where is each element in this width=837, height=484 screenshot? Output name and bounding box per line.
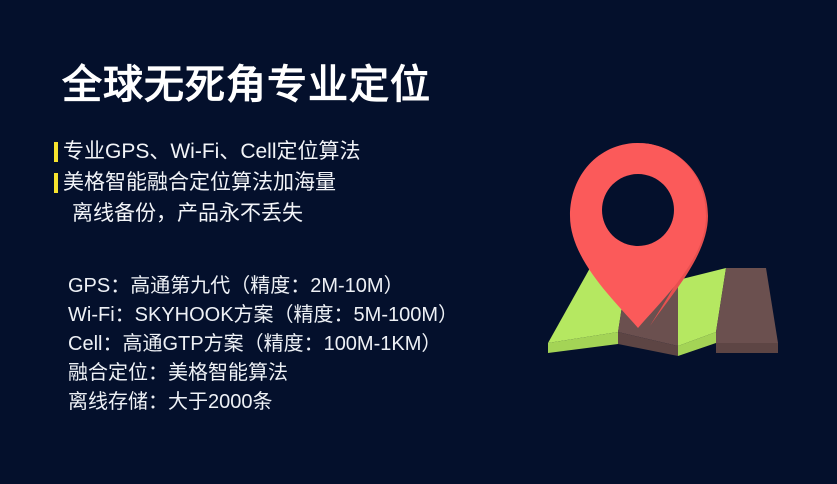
bullet-item: 美格智能融合定位算法加海量 [54,169,494,200]
map-pin-illustration [530,120,790,370]
pin-hole [602,174,674,246]
page-title: 全球无死角专业定位 [62,62,431,108]
spec-list: GPS：高通第九代（精度：2M-10M） Wi-Fi：SKYHOOK方案（精度：… [68,272,498,417]
bullet-item-label: 美格智能融合定位算法加海量 [63,169,336,196]
bullet-list: 专业GPS、Wi-Fi、Cell定位算法 美格智能融合定位算法加海量 离线备份，… [54,138,494,231]
spec-line-fusion: 融合定位：美格智能算法 [68,359,498,388]
spec-line-cell: Cell：高通GTP方案（精度：100M-1KM） [68,330,498,359]
text-column: 全球无死角专业定位 专业GPS、Wi-Fi、Cell定位算法 美格智能融合定位算… [0,0,520,484]
bullet-marker-icon [54,173,58,193]
bullet-marker-placeholder-icon [54,204,58,224]
bullet-item-label: 离线备份，产品永不丢失 [63,200,303,227]
bullet-marker-icon [54,142,58,162]
slide-root: 全球无死角专业定位 专业GPS、Wi-Fi、Cell定位算法 美格智能融合定位算… [0,0,837,484]
bullet-item: 专业GPS、Wi-Fi、Cell定位算法 [54,138,494,169]
bullet-item-label: 专业GPS、Wi-Fi、Cell定位算法 [63,138,361,165]
bullet-item-continuation: 离线备份，产品永不丢失 [54,200,494,231]
spec-line-gps: GPS：高通第九代（精度：2M-10M） [68,272,498,301]
spec-line-offline-storage: 离线存储：大于2000条 [68,388,498,417]
spec-line-wifi: Wi-Fi：SKYHOOK方案（精度：5M-100M） [68,301,498,330]
